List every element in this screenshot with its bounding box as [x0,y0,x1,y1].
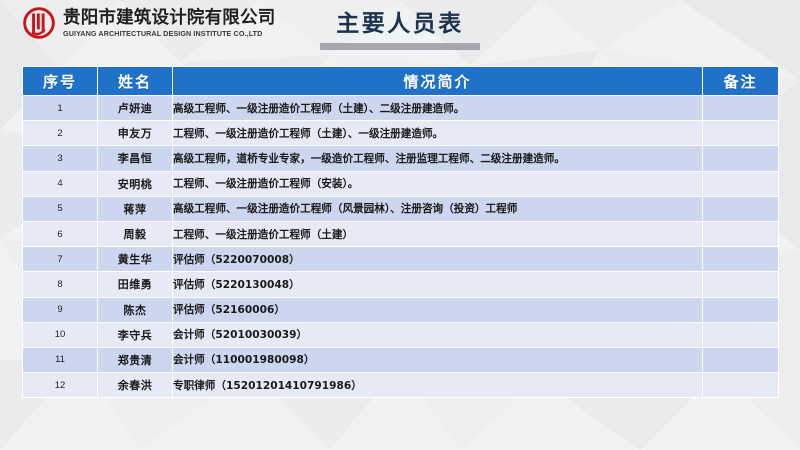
cell-profile: 专职律师（15201201410791986） [173,373,703,398]
table-row: 1卢妍迪高级工程师、一级注册造价工程师（土建）、二级注册建造师。 [23,96,779,121]
cell-remark [703,373,779,398]
cell-remark [703,347,779,372]
cell-name: 周毅 [98,221,173,246]
table-header: 序号 姓名 情况简介 备注 [23,67,779,96]
cell-remark [703,146,779,171]
table-body: 1卢妍迪高级工程师、一级注册造价工程师（土建）、二级注册建造师。2申友万工程师、… [23,96,779,398]
cell-remark [703,221,779,246]
cell-profile: 高级工程师、一级注册造价工程师（风景园林）、注册咨询（投资）工程师 [173,196,703,221]
cell-remark [703,297,779,322]
cell-index: 5 [23,196,98,221]
page-title: 主要人员表 [0,12,800,37]
table-row: 12余春洪专职律师（15201201410791986） [23,373,779,398]
cell-name: 陈杰 [98,297,173,322]
cell-remark [703,121,779,146]
personnel-table: 序号 姓名 情况简介 备注 1卢妍迪高级工程师、一级注册造价工程师（土建）、二级… [22,66,779,398]
column-header-name: 姓名 [98,67,173,96]
cell-remark [703,247,779,272]
cell-remark [703,171,779,196]
table-row: 5蒋萍高级工程师、一级注册造价工程师（风景园林）、注册咨询（投资）工程师 [23,196,779,221]
cell-profile: 会计师（110001980098） [173,347,703,372]
page-title-block: 主要人员表 [0,12,800,50]
cell-index: 6 [23,221,98,246]
cell-name: 蒋萍 [98,196,173,221]
cell-profile: 工程师、一级注册造价工程师（安装）。 [173,171,703,196]
cell-name: 田维勇 [98,272,173,297]
cell-remark [703,272,779,297]
cell-index: 2 [23,121,98,146]
cell-name: 黄生华 [98,247,173,272]
cell-profile: 评估师（5220130048） [173,272,703,297]
cell-index: 12 [23,373,98,398]
cell-remark [703,322,779,347]
cell-name: 余春洪 [98,373,173,398]
table-row: 2申友万工程师、一级注册造价工程师（土建）、一级注册建造师。 [23,121,779,146]
cell-remark [703,196,779,221]
cell-profile: 工程师、一级注册造价工程师（土建） [173,221,703,246]
column-header-profile: 情况简介 [173,67,703,96]
table-row: 9陈杰评估师（52160006） [23,297,779,322]
cell-profile: 高级工程师，道桥专业专家，一级造价工程师、注册监理工程师、二级注册建造师。 [173,146,703,171]
cell-profile: 高级工程师、一级注册造价工程师（土建）、二级注册建造师。 [173,96,703,121]
table-header-row: 序号 姓名 情况简介 备注 [23,67,779,96]
cell-remark [703,96,779,121]
cell-name: 申友万 [98,121,173,146]
cell-index: 1 [23,96,98,121]
column-header-index: 序号 [23,67,98,96]
cell-index: 7 [23,247,98,272]
table-row: 4安明桃工程师、一级注册造价工程师（安装）。 [23,171,779,196]
cell-profile: 评估师（52160006） [173,297,703,322]
table-row: 3李昌恒高级工程师，道桥专业专家，一级造价工程师、注册监理工程师、二级注册建造师… [23,146,779,171]
cell-profile: 会计师（52010030039） [173,322,703,347]
cell-profile: 评估师（5220070008） [173,247,703,272]
cell-name: 李昌恒 [98,146,173,171]
cell-index: 10 [23,322,98,347]
slide-header: 贵阳市建筑设计院有限公司 GUIYANG ARCHITECTURAL DESIG… [0,0,800,62]
slide-root: 贵阳市建筑设计院有限公司 GUIYANG ARCHITECTURAL DESIG… [0,0,800,450]
table-row: 11郑贵清会计师（110001980098） [23,347,779,372]
column-header-remark: 备注 [703,67,779,96]
table-row: 8田维勇评估师（5220130048） [23,272,779,297]
cell-name: 李守兵 [98,322,173,347]
cell-index: 8 [23,272,98,297]
cell-index: 4 [23,171,98,196]
cell-index: 11 [23,347,98,372]
cell-index: 9 [23,297,98,322]
cell-name: 安明桃 [98,171,173,196]
title-underline [320,43,480,50]
cell-name: 卢妍迪 [98,96,173,121]
personnel-table-container: 序号 姓名 情况简介 备注 1卢妍迪高级工程师、一级注册造价工程师（土建）、二级… [22,66,778,398]
table-row: 10李守兵会计师（52010030039） [23,322,779,347]
cell-index: 3 [23,146,98,171]
cell-name: 郑贵清 [98,347,173,372]
cell-profile: 工程师、一级注册造价工程师（土建）、一级注册建造师。 [173,121,703,146]
table-row: 7黄生华评估师（5220070008） [23,247,779,272]
table-row: 6周毅工程师、一级注册造价工程师（土建） [23,221,779,246]
